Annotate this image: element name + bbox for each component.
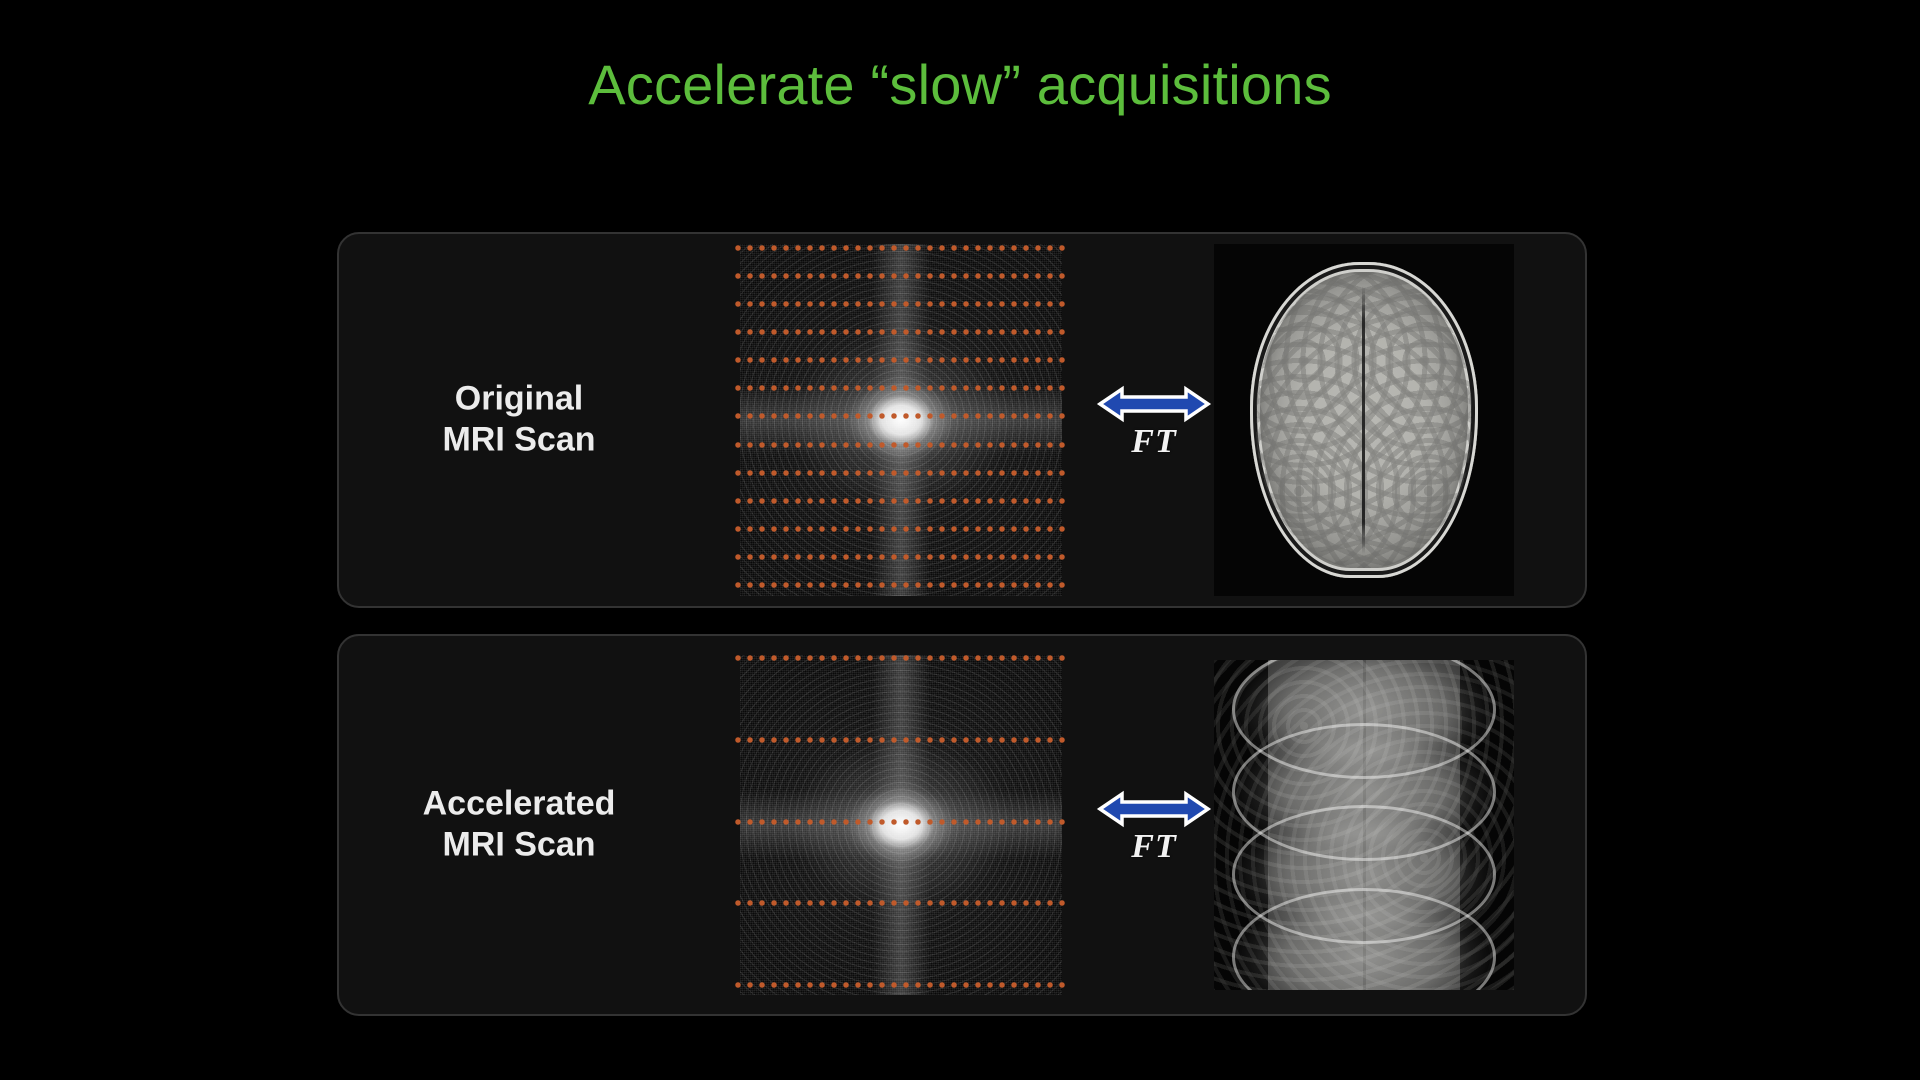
brain-clean-render — [1214, 244, 1514, 596]
kspace-rings-accelerated — [740, 655, 1062, 995]
slide-root: Accelerate “slow” acquisitions Original … — [0, 0, 1920, 1080]
brain-aliased-render — [1214, 660, 1514, 990]
panel-original-mri-scan: Original MRI Scan FT — [337, 232, 1587, 608]
panel-label-accelerated-line2: MRI Scan — [359, 825, 679, 866]
double-arrow-icon — [1096, 381, 1212, 427]
kspace-image-accelerated — [732, 655, 1070, 995]
fourier-transform-arrow-original: FT — [1094, 381, 1214, 459]
brain-mri-accelerated — [1214, 660, 1514, 990]
panel-label-original-line1: Original — [455, 380, 583, 418]
panel-label-accelerated: Accelerated MRI Scan — [359, 784, 679, 867]
brain-midline — [1362, 286, 1365, 554]
ft-label-accelerated: FT — [1094, 830, 1214, 864]
panel-label-accelerated-line1: Accelerated — [423, 785, 616, 823]
kspace-rings-original — [740, 244, 1062, 596]
fourier-transform-arrow-accelerated: FT — [1094, 786, 1214, 864]
brain-mri-original — [1214, 244, 1514, 596]
panel-accelerated-mri-scan: Accelerated MRI Scan FT — [337, 634, 1587, 1016]
kspace-magnitude-original — [740, 244, 1062, 596]
panel-label-original: Original MRI Scan — [359, 379, 679, 462]
kspace-image-original — [732, 244, 1070, 596]
ft-label-original: FT — [1094, 425, 1214, 459]
kspace-magnitude-accelerated — [740, 655, 1062, 995]
page-title: Accelerate “slow” acquisitions — [0, 52, 1920, 117]
double-arrow-icon — [1096, 786, 1212, 832]
panel-label-original-line2: MRI Scan — [359, 420, 679, 461]
